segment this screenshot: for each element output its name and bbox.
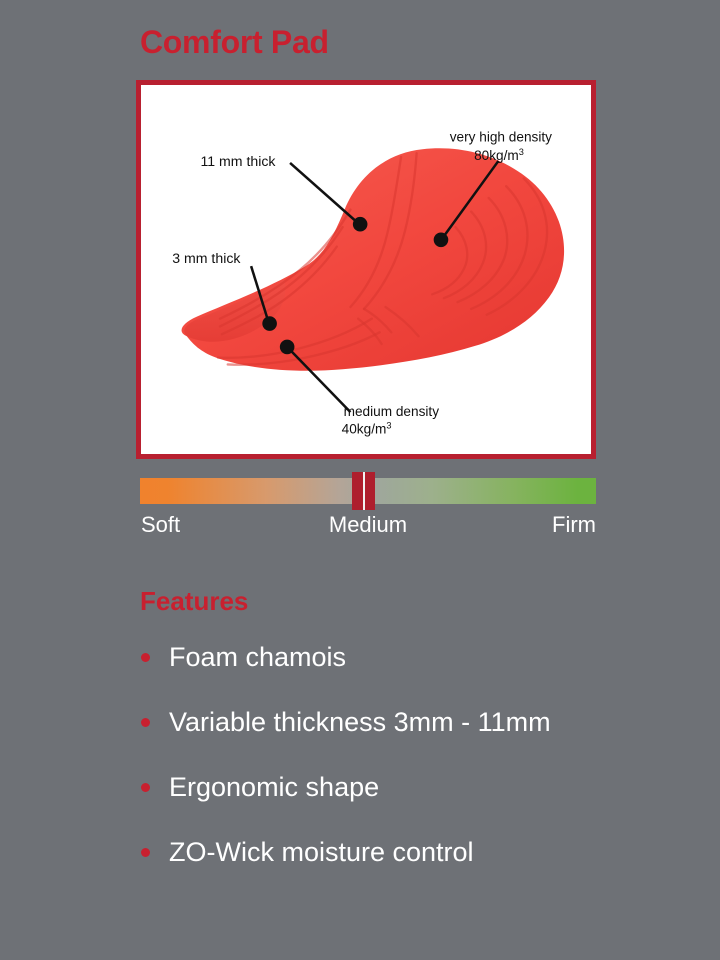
- comfort-pad-illustration: 11 mm thick 3 mm thick very high density…: [141, 85, 591, 454]
- features-section: Features Foam chamois Variable thickness…: [140, 588, 700, 896]
- bullet-icon: [141, 848, 150, 857]
- firmness-marker-line: [363, 472, 365, 510]
- feature-item: Foam chamois: [140, 636, 700, 678]
- bullet-icon: [141, 783, 150, 792]
- label-11mm-thick: 11 mm thick: [200, 153, 276, 169]
- svg-text:very high density: very high density: [450, 129, 552, 144]
- dot-11mm: [353, 217, 368, 232]
- feature-label: Foam chamois: [169, 644, 346, 671]
- scale-label-firm: Firm: [140, 514, 596, 536]
- bullet-icon: [141, 718, 150, 727]
- svg-text:medium density: medium density: [344, 404, 440, 419]
- dot-3mm: [262, 316, 277, 331]
- firmness-scale: Soft Medium Firm: [140, 470, 596, 545]
- label-3mm-thick: 3 mm thick: [172, 250, 241, 266]
- svg-text:40kg/m3: 40kg/m3: [342, 421, 392, 437]
- feature-label: ZO-Wick moisture control: [169, 839, 474, 866]
- svg-text:80kg/m3: 80kg/m3: [474, 147, 524, 163]
- bullet-icon: [141, 653, 150, 662]
- label-medium-density: medium density 40kg/m3: [342, 404, 440, 437]
- feature-label: Variable thickness 3mm - 11mm: [169, 709, 551, 736]
- feature-label: Ergonomic shape: [169, 774, 379, 801]
- dot-medium-density: [280, 340, 295, 355]
- feature-item: Variable thickness 3mm - 11mm: [140, 701, 700, 743]
- feature-item: Ergonomic shape: [140, 766, 700, 808]
- firmness-marker[interactable]: [352, 472, 375, 510]
- page-title: Comfort Pad: [140, 26, 329, 58]
- dot-very-high-density: [434, 233, 449, 248]
- features-heading: Features: [140, 588, 700, 614]
- product-image-frame: 11 mm thick 3 mm thick very high density…: [136, 80, 596, 459]
- feature-item: ZO-Wick moisture control: [140, 831, 700, 873]
